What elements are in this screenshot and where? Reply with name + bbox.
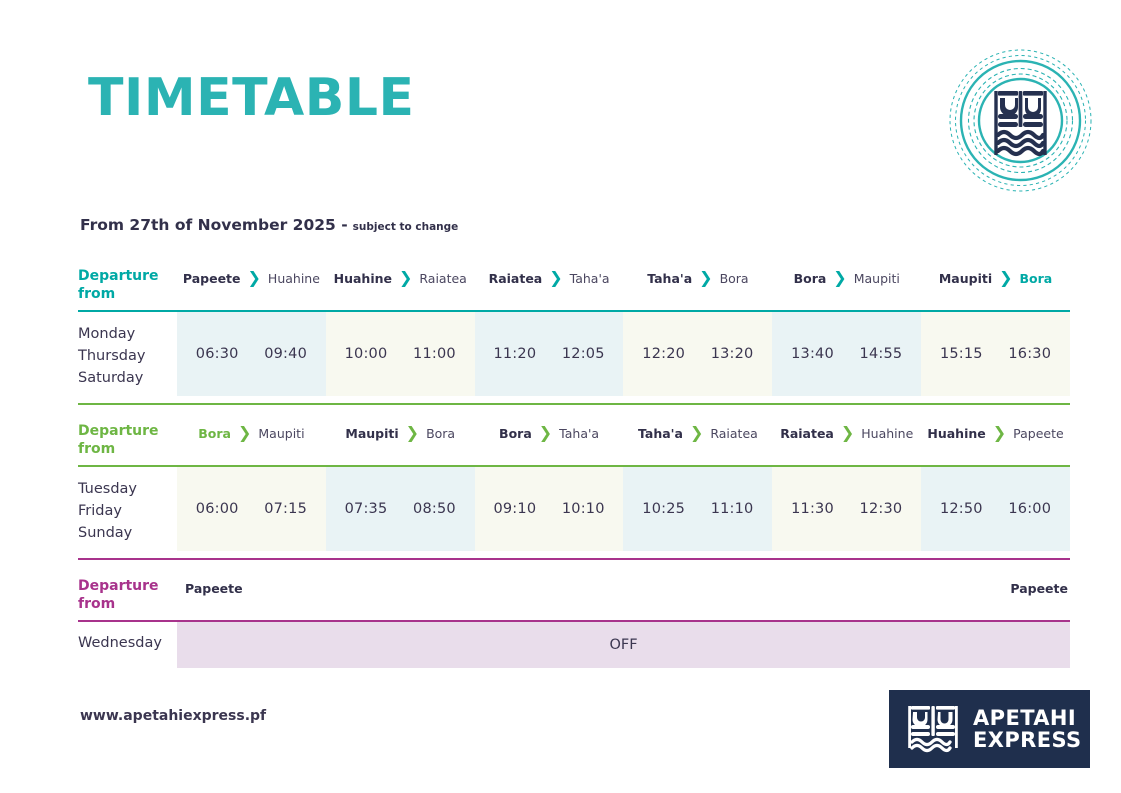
leg-times: 09:10 10:10 [475,467,624,551]
departure-time: 06:00 [196,501,239,517]
table-header-row: Departure from Bora ❯ Maupiti Maupiti ❯ … [78,423,1070,458]
leg-destination: Huahine [268,271,320,286]
apetahi-tiki-medallion-icon [948,48,1093,193]
leg-times: 10:00 11:00 [326,312,475,396]
arrival-time: 16:30 [1008,346,1051,362]
departure-from-label-line1: Departure [78,578,173,596]
arrival-time: 12:30 [860,501,903,517]
section-spacer [78,560,1070,578]
table-header-row: Departure from Papeete Papeete [78,578,1070,613]
day-label-cell: Monday Thursday Saturday [78,312,177,396]
leg-destination: Taha'a [570,271,610,286]
table-body-row: Monday Thursday Saturday 06:30 09:40 10:… [78,312,1070,396]
off-origin-port: Papeete [185,581,243,596]
leg-destination: Papeete [1013,426,1064,441]
arrival-time: 11:00 [413,346,456,362]
day-name: Wednesday [78,622,173,651]
leg-header: Taha'a ❯ Bora [623,268,772,286]
leg-headers: Bora ❯ Maupiti Maupiti ❯ Bora Bora ❯ Tah… [177,423,1070,441]
arrival-time: 14:55 [860,346,903,362]
chevron-right-icon: ❯ [999,270,1012,286]
leg-origin: Raiatea [489,271,543,286]
leg-time-cells: 06:00 07:15 07:35 08:50 09:10 10:10 10:2… [177,467,1070,551]
chevron-right-icon: ❯ [833,270,846,286]
leg-header: Raiatea ❯ Huahine [772,423,921,441]
day-name: Sunday [78,522,173,544]
day-name: Thursday [78,345,173,367]
chevron-right-icon: ❯ [539,425,552,441]
leg-destination: Bora [1020,271,1053,286]
leg-destination: Bora [426,426,455,441]
leg-origin: Huahine [334,271,392,286]
chevron-right-icon: ❯ [248,270,261,286]
leg-destination: Raiatea [710,426,757,441]
leg-header: Maupiti ❯ Bora [326,423,475,441]
departure-time: 13:40 [791,346,834,362]
leg-header: Bora ❯ Maupiti [177,423,326,441]
table-body-row: Wednesday OFF [78,622,1070,668]
leg-origin: Taha'a [647,271,692,286]
off-destination-port: Papeete [1010,581,1068,596]
leg-origin: Raiatea [780,426,834,441]
departure-time: 10:25 [642,501,685,517]
leg-header: Papeete ❯ Huahine [177,268,326,286]
leg-times: 13:40 14:55 [772,312,921,396]
arrival-time: 07:15 [264,501,307,517]
departure-time: 15:15 [940,346,983,362]
leg-header: Huahine ❯ Papeete [921,423,1070,441]
apetahi-express-logo: APETAHI EXPRESS [889,690,1090,768]
timetable-tables: Departure from Papeete ❯ Huahine Huahine… [78,268,1070,668]
departure-from-label-line1: Departure [78,268,173,286]
leg-origin: Bora [794,271,827,286]
leg-times: 06:00 07:15 [177,467,326,551]
day-name: Saturday [78,367,173,389]
leg-header: Raiatea ❯ Taha'a [475,268,624,286]
website-url[interactable]: www.apetahiexpress.pf [80,708,266,724]
day-name: Tuesday [78,478,173,500]
departure-from-label-line2: from [78,596,173,614]
effective-date-text: From 27th of November 2025 - [80,216,348,234]
departure-from-header: Departure from [78,578,177,613]
chevron-right-icon: ❯ [699,270,712,286]
leg-headers: Papeete ❯ Huahine Huahine ❯ Raiatea Raia… [177,268,1070,286]
day-name: Friday [78,500,173,522]
leg-origin: Maupiti [939,271,992,286]
chevron-right-icon: ❯ [549,270,562,286]
leg-destination: Huahine [861,426,913,441]
departure-from-header: Departure from [78,423,177,458]
arrival-time: 10:10 [562,501,605,517]
day-list: Monday Thursday Saturday [78,312,173,389]
leg-origin: Taha'a [638,426,683,441]
departure-from-label-line1: Departure [78,423,173,441]
leg-time-cells: 06:30 09:40 10:00 11:00 11:20 12:05 12:2… [177,312,1070,396]
departure-from-label-line2: from [78,286,173,304]
arrival-time: 11:10 [711,501,754,517]
schedule-table-off: Departure from Papeete Papeete Wednesday… [78,578,1070,668]
leg-header: Huahine ❯ Raiatea [326,268,475,286]
departure-from-header: Departure from [78,268,177,303]
leg-header: Bora ❯ Taha'a [475,423,624,441]
section-spacer [78,405,1070,423]
day-list: Tuesday Friday Sunday [78,467,173,544]
leg-destination: Maupiti [854,271,900,286]
leg-times: 15:15 16:30 [921,312,1070,396]
table-header-row: Departure from Papeete ❯ Huahine Huahine… [78,268,1070,303]
departure-time: 06:30 [196,346,239,362]
off-port-headers: Papeete Papeete [177,578,1070,596]
table-body-row: Tuesday Friday Sunday 06:00 07:15 07:35 … [78,467,1070,551]
chevron-right-icon: ❯ [406,425,419,441]
departure-time: 09:10 [493,501,536,517]
leg-header: Taha'a ❯ Raiatea [623,423,772,441]
departure-time: 11:20 [493,346,536,362]
leg-destination: Raiatea [419,271,466,286]
brand-line-2: EXPRESS [973,728,1082,752]
departure-from-label-line2: from [78,441,173,459]
chevron-right-icon: ❯ [399,270,412,286]
leg-destination: Bora [720,271,749,286]
chevron-right-icon: ❯ [238,425,251,441]
leg-times: 07:35 08:50 [326,467,475,551]
page-header: TIMETABLE [0,0,1121,210]
chevron-right-icon: ❯ [841,425,854,441]
leg-times: 12:50 16:00 [921,467,1070,551]
arrival-time: 08:50 [413,501,456,517]
off-status-text: OFF [609,637,637,653]
leg-origin: Maupiti [345,426,398,441]
effective-date-note: From 27th of November 2025 - subject to … [80,216,458,234]
day-name: Monday [78,323,173,345]
day-label-cell: Tuesday Friday Sunday [78,467,177,551]
leg-times: 11:30 12:30 [772,467,921,551]
departure-time: 10:00 [345,346,388,362]
arrival-time: 09:40 [264,346,307,362]
chevron-right-icon: ❯ [993,425,1006,441]
chevron-right-icon: ❯ [690,425,703,441]
leg-origin: Papeete [183,271,241,286]
page-title: TIMETABLE [88,72,415,124]
subject-to-change-text: subject to change [353,221,459,233]
leg-header: Maupiti ❯ Bora [921,268,1070,286]
arrival-time: 12:05 [562,346,605,362]
leg-header: Bora ❯ Maupiti [772,268,921,286]
schedule-table-outbound: Departure from Papeete ❯ Huahine Huahine… [78,268,1070,405]
leg-times: 10:25 11:10 [623,467,772,551]
arrival-time: 16:00 [1008,501,1051,517]
brand-wordmark: APETAHI EXPRESS [973,707,1082,752]
brand-line-1: APETAHI [973,706,1076,730]
departure-time: 11:30 [791,501,834,517]
day-label-cell: Wednesday [78,622,177,668]
departure-time: 12:20 [642,346,685,362]
apetahi-tiki-mark-icon [908,701,960,758]
leg-destination: Maupiti [258,426,304,441]
leg-origin: Bora [499,426,532,441]
leg-origin: Bora [198,426,231,441]
schedule-table-return: Departure from Bora ❯ Maupiti Maupiti ❯ … [78,423,1070,560]
leg-origin: Huahine [927,426,985,441]
leg-times: 06:30 09:40 [177,312,326,396]
departure-time: 12:50 [940,501,983,517]
leg-times: 11:20 12:05 [475,312,624,396]
leg-destination: Taha'a [559,426,599,441]
leg-times: 12:20 13:20 [623,312,772,396]
departure-time: 07:35 [345,501,388,517]
arrival-time: 13:20 [711,346,754,362]
off-status-band: OFF [177,622,1070,668]
